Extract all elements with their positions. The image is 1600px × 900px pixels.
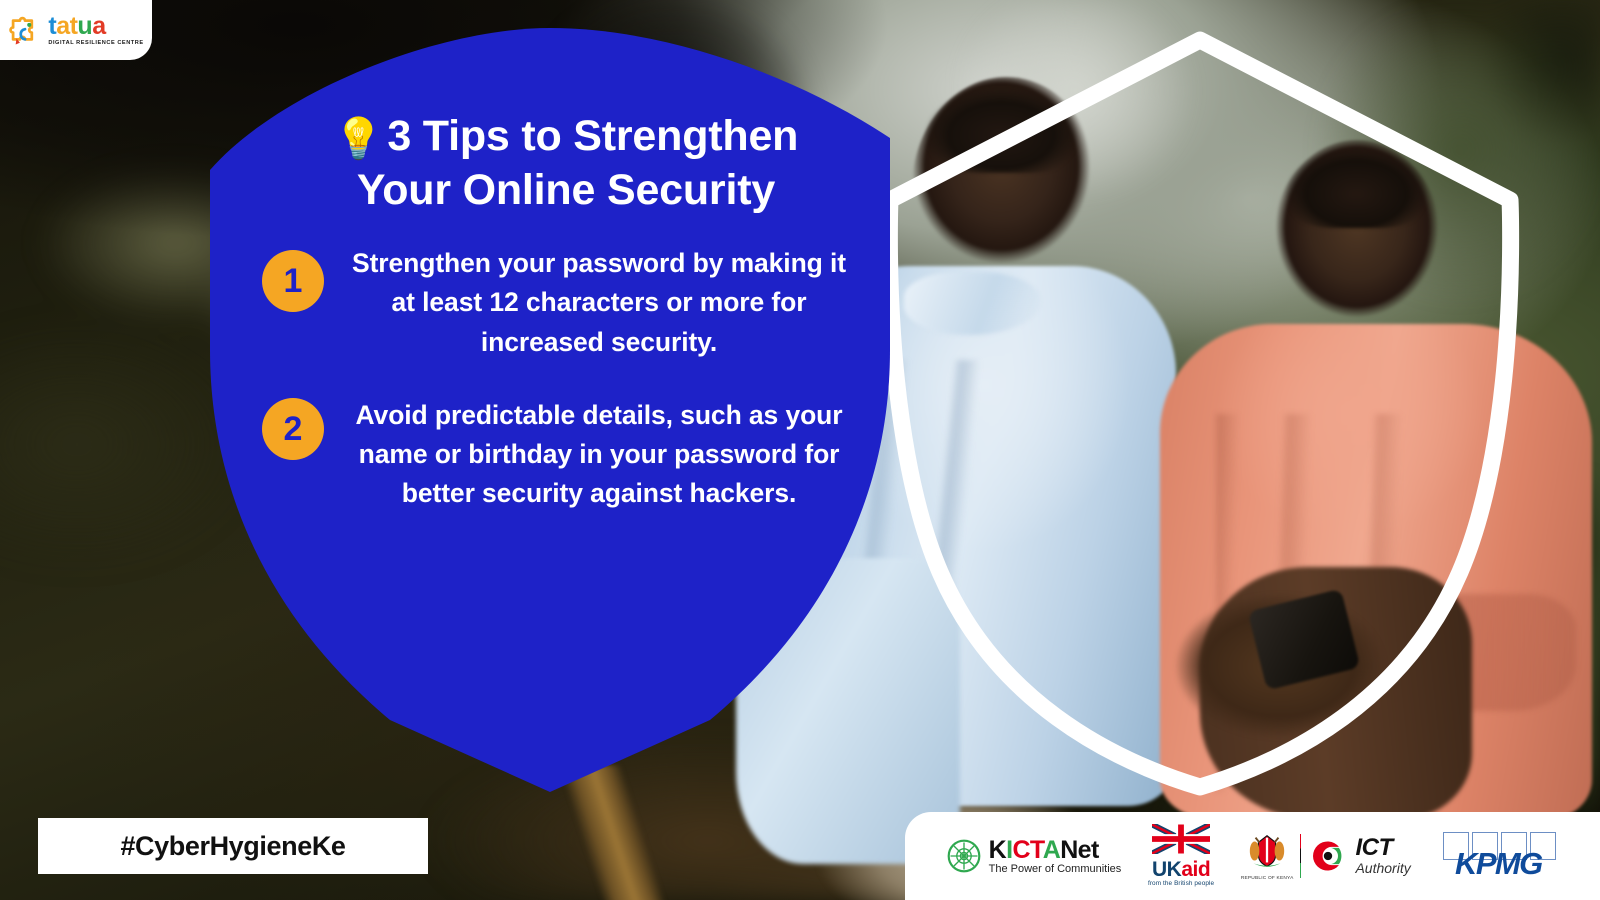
hashtag-text: #CyberHygieneKe xyxy=(120,831,345,862)
kenya-ict-authority-logo: REPUBLIC OF KENYA ICT Authority xyxy=(1241,830,1411,882)
page-title-line1: 3 Tips to Strengthen xyxy=(387,112,798,160)
tatua-letter-5: a xyxy=(92,12,105,40)
kenya-coat-of-arms-icon xyxy=(1246,830,1288,872)
tip-item-1: 1 Strengthen your password by making it … xyxy=(262,244,864,362)
tatua-letter-4: u xyxy=(77,12,92,40)
kenya-caption: REPUBLIC OF KENYA xyxy=(1241,877,1294,882)
kpmg-logo: KPMG xyxy=(1437,832,1559,880)
tip-number-badge-2: 2 xyxy=(262,398,324,460)
kictanet-tagline: The Power of Communities xyxy=(989,864,1122,876)
tatua-tagline: DIGITAL RESILIENCE CENTRE xyxy=(48,41,143,47)
tip-item-2: 2 Avoid predictable details, such as you… xyxy=(262,396,864,514)
photo-person2-hair xyxy=(1275,133,1438,228)
photo-person1-hair xyxy=(917,74,1093,173)
ict-authority-wordmark: ICT Authority xyxy=(1355,836,1410,875)
hashtag-bar: #CyberHygieneKe xyxy=(38,818,428,874)
ukaid-aid: aid xyxy=(1181,858,1210,881)
tip-text-2: Avoid predictable details, such as your … xyxy=(338,396,860,514)
tip-number-badge-1: 1 xyxy=(262,250,324,312)
puzzle-piece-icon xyxy=(8,13,42,47)
tatua-wordmark: tatua DIGITAL RESILIENCE CENTRE xyxy=(48,14,143,47)
ukaid-subtitle: from the British people xyxy=(1148,881,1214,887)
tatua-logo-badge[interactable]: tatua DIGITAL RESILIENCE CENTRE xyxy=(0,0,152,60)
union-jack-flag-icon xyxy=(1152,824,1210,854)
tip-text-1: Strengthen your password by making it at… xyxy=(338,244,860,362)
ukaid-wordmark: UKaid xyxy=(1148,859,1214,880)
kictanet-wordmark: KICTANet The Power of Communities xyxy=(989,837,1122,876)
kictanet-k: K xyxy=(989,836,1006,864)
kictanet-tree-icon xyxy=(946,838,982,874)
ukaid-uk: UK xyxy=(1152,858,1181,881)
kictanet-net: Net xyxy=(1060,836,1098,864)
ukaid-logo: UKaid from the British people xyxy=(1148,824,1214,887)
tatua-letter-2: a xyxy=(56,12,69,40)
tatua-letter-1: t xyxy=(48,12,56,40)
ict-authority-swoosh-icon xyxy=(1308,836,1348,876)
ict-authority-name: ICT xyxy=(1355,836,1410,860)
kenya-coat-of-arms: REPUBLIC OF KENYA xyxy=(1241,830,1294,882)
kictanet-name: KICTANet xyxy=(989,837,1122,863)
logo-divider xyxy=(1300,834,1301,878)
page-title-line2: Your Online Security xyxy=(357,166,775,214)
kictanet-a: A xyxy=(1043,836,1060,864)
kictanet-ct: CT xyxy=(1012,836,1042,864)
lightbulb-icon: 💡 xyxy=(334,117,384,161)
kpmg-wordmark: KPMG xyxy=(1437,846,1559,882)
page-title: 💡3 Tips to Strengthen Your Online Securi… xyxy=(262,110,864,216)
shield-content: 💡3 Tips to Strengthen Your Online Securi… xyxy=(190,20,910,800)
ict-authority-subtitle: Authority xyxy=(1355,861,1410,875)
tatua-name: tatua xyxy=(48,14,143,39)
partner-logo-bar: KICTANet The Power of Communities UKaid … xyxy=(905,812,1600,900)
kictanet-logo: KICTANet The Power of Communities xyxy=(946,837,1122,876)
